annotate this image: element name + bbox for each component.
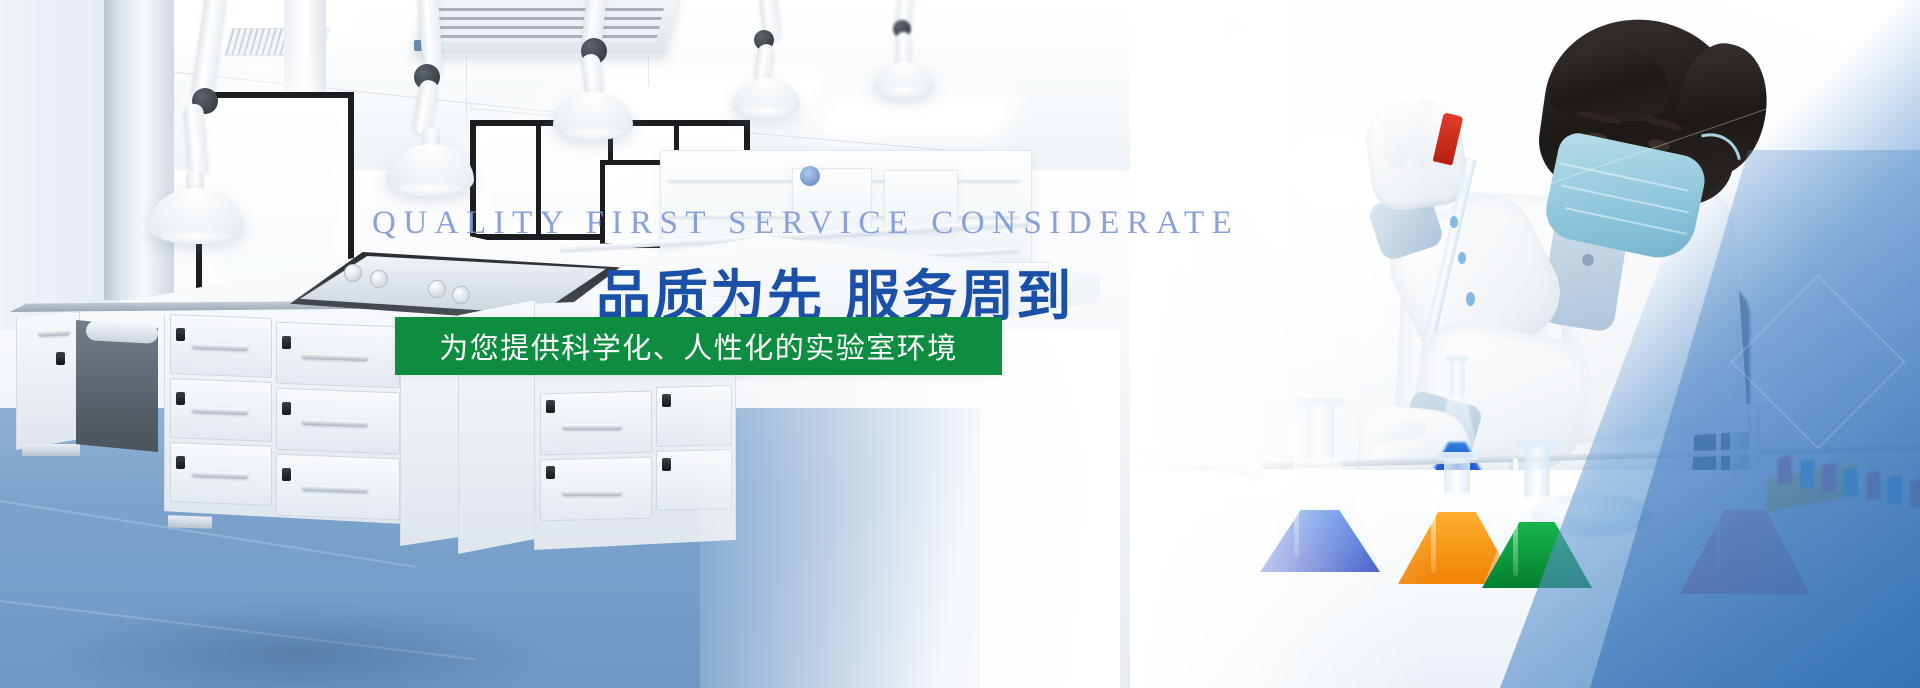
equipment-logo-icon <box>800 166 820 186</box>
scene-blend-mask <box>1130 0 1430 688</box>
cabinet-foot <box>168 515 212 529</box>
waste-chute-handle <box>86 320 159 344</box>
bench-floor-shadow <box>40 600 560 688</box>
drawer-lock <box>662 458 671 471</box>
drawer-lock <box>176 328 185 341</box>
flask-highlight <box>1513 458 1518 576</box>
drawer-lock <box>662 394 671 407</box>
sink-control-knob <box>344 264 362 282</box>
cabinet-lock <box>56 352 65 365</box>
sink-control-knob <box>452 286 470 304</box>
flask-highlight <box>1431 468 1436 574</box>
flask-neck <box>1444 459 1470 495</box>
subtitle-banner: 为您提供科学化、人性化的实验室环境 <box>395 317 1002 375</box>
drawer-lock <box>546 400 555 413</box>
drawer <box>540 457 652 522</box>
drawer-handle <box>562 490 622 496</box>
drawer-lock <box>282 336 291 349</box>
liquid-drop <box>1466 292 1475 306</box>
subtitle-text: 为您提供科学化、人性化的实验室环境 <box>439 325 958 367</box>
sink-control-knob <box>428 280 446 298</box>
liquid-drop <box>1450 216 1458 228</box>
lab-hero-banner: QUALITY FIRST SERVICE CONSIDERATE 品质为先 服… <box>0 0 1920 688</box>
drawer <box>540 391 652 456</box>
collar-button <box>1582 254 1594 266</box>
ac-cassette-unit <box>412 0 681 56</box>
sink-control-knob <box>370 270 388 288</box>
drawer-lock <box>176 392 185 405</box>
side-wall <box>0 0 120 330</box>
flask-neck <box>1525 447 1550 499</box>
arm-segment <box>896 32 911 66</box>
column-shadow <box>104 0 120 300</box>
eyebrow-tagline: QUALITY FIRST SERVICE CONSIDERATE <box>372 205 1239 242</box>
flask-neck <box>1450 361 1464 401</box>
liquid-drop <box>1458 252 1466 264</box>
cabinet-foot <box>22 444 80 456</box>
scientist-scene <box>1130 0 1920 688</box>
floor-fade <box>700 330 1120 688</box>
drawer-lock <box>546 466 555 479</box>
ceiling-light-panel <box>824 104 1007 130</box>
drawer-lock <box>282 402 291 415</box>
drawer-lock <box>176 456 185 469</box>
drawer-handle <box>562 424 622 430</box>
drawer-lock <box>282 468 291 481</box>
ac-grill <box>430 8 664 42</box>
